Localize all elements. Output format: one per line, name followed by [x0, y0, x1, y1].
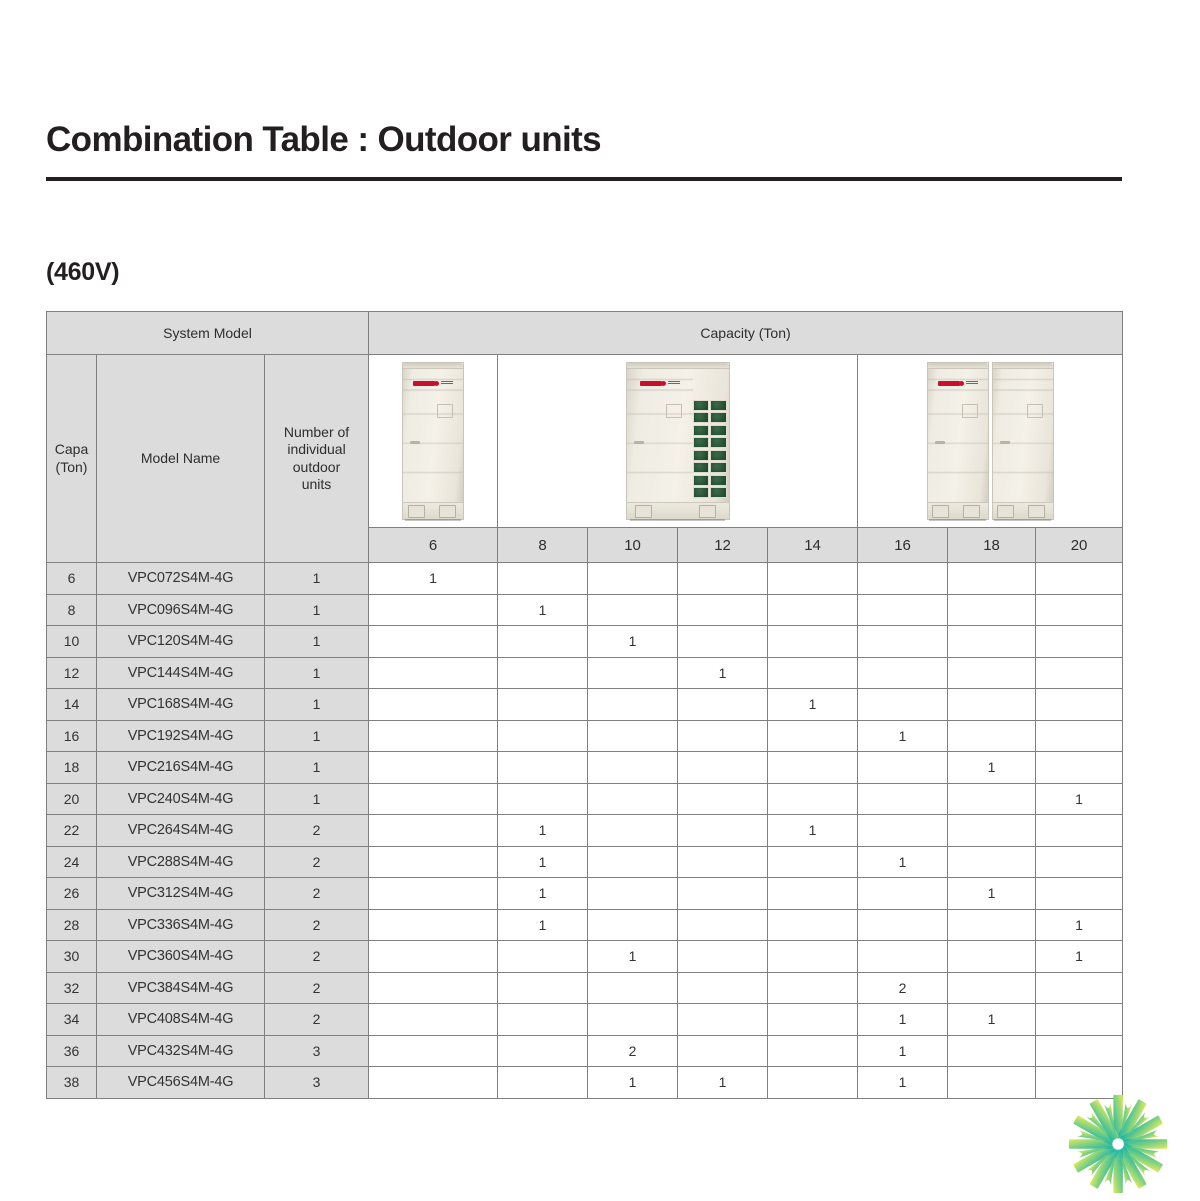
capacity-cell-20 — [1036, 689, 1123, 721]
capacity-cell-6 — [369, 689, 498, 721]
row-model-name: VPC264S4M-4G — [97, 815, 265, 847]
row-capacity-ton: 30 — [47, 941, 97, 973]
unit-vent-icon — [935, 441, 945, 444]
capacity-cell-6 — [369, 783, 498, 815]
header-model-name: Model Name — [97, 355, 265, 563]
unit-vent-icon — [1000, 441, 1010, 444]
row-capacity-ton: 26 — [47, 878, 97, 910]
header-units-line3: outdoor — [265, 459, 368, 477]
capacity-cell-14 — [768, 972, 858, 1004]
capacity-cell-18 — [948, 720, 1036, 752]
capacity-cell-8 — [498, 941, 588, 973]
capacity-cell-14 — [768, 1067, 858, 1099]
unit-front-panel — [627, 369, 729, 502]
capacity-cell-14 — [768, 720, 858, 752]
capacity-cell-6 — [369, 752, 498, 784]
capacity-cell-6 — [369, 941, 498, 973]
capacity-cell-12 — [678, 752, 768, 784]
capacity-cell-12 — [678, 941, 768, 973]
capacity-cell-16 — [858, 941, 948, 973]
unit-ground-shadow — [994, 519, 1050, 521]
capacity-cell-12 — [678, 563, 768, 595]
table-row: 36VPC432S4M-4G321 — [47, 1035, 1123, 1067]
unit-base-plate — [627, 502, 729, 519]
outdoor-unit-body-secondary — [992, 362, 1054, 520]
capacity-cell-18 — [948, 689, 1036, 721]
capacity-cell-20: 1 — [1036, 909, 1123, 941]
capacity-cell-10 — [588, 846, 678, 878]
capacity-cell-12 — [678, 594, 768, 626]
capacity-cell-14 — [768, 657, 858, 689]
capacity-cell-8: 1 — [498, 909, 588, 941]
capacity-cell-8 — [498, 626, 588, 658]
row-number-of-units: 2 — [265, 878, 369, 910]
capacity-cell-12 — [678, 1004, 768, 1036]
row-model-name: VPC456S4M-4G — [97, 1067, 265, 1099]
unit-image-cell-dual — [858, 355, 1123, 528]
row-model-name: VPC384S4M-4G — [97, 972, 265, 1004]
voltage-subtitle: (460V) — [46, 258, 119, 287]
row-number-of-units: 2 — [265, 972, 369, 1004]
table-row: 38VPC456S4M-4G3111 — [47, 1067, 1123, 1099]
capacity-cell-12: 1 — [678, 1067, 768, 1099]
capacity-cell-10 — [588, 815, 678, 847]
unit-access-hatch-icon — [437, 404, 453, 418]
logo-wordmark-icon — [966, 381, 978, 385]
logo-wordmark-icon — [441, 381, 453, 385]
row-number-of-units: 1 — [265, 720, 369, 752]
row-capacity-ton: 10 — [47, 626, 97, 658]
row-capacity-ton: 8 — [47, 594, 97, 626]
capacity-cell-12 — [678, 689, 768, 721]
capacity-cell-18 — [948, 626, 1036, 658]
row-number-of-units: 2 — [265, 941, 369, 973]
row-model-name: VPC168S4M-4G — [97, 689, 265, 721]
capacity-cell-14: 1 — [768, 689, 858, 721]
capacity-cell-10 — [588, 720, 678, 752]
capacity-cell-14 — [768, 941, 858, 973]
row-number-of-units: 2 — [265, 846, 369, 878]
unit-access-hatch-icon — [962, 404, 978, 418]
capacity-cell-16: 1 — [858, 1004, 948, 1036]
capacity-cell-18 — [948, 846, 1036, 878]
table-row: 6VPC072S4M-4G11 — [47, 563, 1123, 595]
header-system-model: System Model — [47, 312, 369, 355]
unit-face-panel — [928, 369, 988, 502]
capacity-cell-10 — [588, 783, 678, 815]
capacity-cell-16: 1 — [858, 846, 948, 878]
unit-front-panel — [993, 369, 1053, 502]
capacity-cell-10 — [588, 1004, 678, 1036]
capacity-column-header-12: 12 — [678, 528, 768, 563]
capacity-cell-20 — [1036, 1035, 1123, 1067]
row-capacity-ton: 14 — [47, 689, 97, 721]
capacity-cell-8 — [498, 1067, 588, 1099]
row-model-name: VPC072S4M-4G — [97, 563, 265, 595]
table-row: 10VPC120S4M-4G11 — [47, 626, 1123, 658]
row-capacity-ton: 36 — [47, 1035, 97, 1067]
table-row: 26VPC312S4M-4G211 — [47, 878, 1123, 910]
row-number-of-units: 1 — [265, 594, 369, 626]
capacity-cell-12 — [678, 972, 768, 1004]
row-capacity-ton: 6 — [47, 563, 97, 595]
capacity-cell-14 — [768, 878, 858, 910]
unit-base-plate — [928, 502, 988, 519]
capacity-cell-18 — [948, 909, 1036, 941]
capacity-cell-12 — [678, 909, 768, 941]
row-capacity-ton: 16 — [47, 720, 97, 752]
capacity-cell-6 — [369, 909, 498, 941]
row-number-of-units: 2 — [265, 909, 369, 941]
table-head: System Model Capacity (Ton) Capa (Ton) M… — [47, 312, 1123, 563]
capacity-cell-6 — [369, 846, 498, 878]
capacity-cell-20 — [1036, 626, 1123, 658]
header-subheader-row: Capa (Ton) Model Name Number of individu… — [47, 355, 1123, 528]
capacity-cell-18: 1 — [948, 878, 1036, 910]
capacity-cell-18: 1 — [948, 752, 1036, 784]
table-row: 20VPC240S4M-4G11 — [47, 783, 1123, 815]
capacity-cell-8 — [498, 563, 588, 595]
single-wide-outdoor-unit — [498, 355, 857, 527]
row-model-name: VPC216S4M-4G — [97, 752, 265, 784]
capacity-cell-14 — [768, 846, 858, 878]
capacity-cell-20 — [1036, 563, 1123, 595]
outdoor-unit-body — [626, 362, 730, 520]
logo-bar-icon — [938, 381, 960, 386]
capacity-column-header-16: 16 — [858, 528, 948, 563]
capacity-column-header-8: 8 — [498, 528, 588, 563]
capacity-cell-20 — [1036, 878, 1123, 910]
logo-dot-icon — [959, 381, 964, 386]
capacity-cell-8 — [498, 689, 588, 721]
capacity-cell-12 — [678, 846, 768, 878]
outdoor-unit-body — [927, 362, 989, 520]
table-row: 16VPC192S4M-4G11 — [47, 720, 1123, 752]
unit-image-cell-single-wide — [498, 355, 858, 528]
row-number-of-units: 3 — [265, 1067, 369, 1099]
unit-foot-right-icon — [699, 505, 716, 518]
capacity-cell-16 — [858, 783, 948, 815]
capacity-cell-12 — [678, 783, 768, 815]
capacity-cell-20 — [1036, 972, 1123, 1004]
unit-heat-exchanger-coil — [693, 400, 727, 498]
capacity-cell-14 — [768, 563, 858, 595]
header-units-line4: units — [265, 476, 368, 494]
row-capacity-ton: 28 — [47, 909, 97, 941]
capacity-cell-6 — [369, 972, 498, 1004]
unit-foot-right-icon — [439, 505, 456, 518]
table-row: 24VPC288S4M-4G211 — [47, 846, 1123, 878]
capacity-cell-10: 2 — [588, 1035, 678, 1067]
table-row: 14VPC168S4M-4G11 — [47, 689, 1123, 721]
row-model-name: VPC336S4M-4G — [97, 909, 265, 941]
capacity-cell-8 — [498, 972, 588, 1004]
row-capacity-ton: 32 — [47, 972, 97, 1004]
capacity-cell-8 — [498, 1035, 588, 1067]
capacity-cell-14: 1 — [768, 815, 858, 847]
capacity-cell-14 — [768, 1035, 858, 1067]
capacity-cell-10 — [588, 909, 678, 941]
capacity-column-header-18: 18 — [948, 528, 1036, 563]
capacity-cell-6 — [369, 1035, 498, 1067]
capacity-cell-12 — [678, 878, 768, 910]
table-row: 12VPC144S4M-4G11 — [47, 657, 1123, 689]
capacity-cell-18: 1 — [948, 1004, 1036, 1036]
capacity-cell-12 — [678, 626, 768, 658]
capacity-cell-20: 1 — [1036, 783, 1123, 815]
row-model-name: VPC240S4M-4G — [97, 783, 265, 815]
capacity-cell-10 — [588, 972, 678, 1004]
lennox-logo-icon — [640, 381, 680, 386]
unit-access-hatch-icon — [666, 404, 682, 418]
capacity-cell-18 — [948, 594, 1036, 626]
logo-dot-icon — [434, 381, 439, 386]
capacity-cell-6 — [369, 720, 498, 752]
capacity-cell-12: 1 — [678, 657, 768, 689]
row-model-name: VPC408S4M-4G — [97, 1004, 265, 1036]
row-capacity-ton: 20 — [47, 783, 97, 815]
capacity-cell-20 — [1036, 815, 1123, 847]
row-model-name: VPC360S4M-4G — [97, 941, 265, 973]
unit-front-panel — [928, 369, 988, 502]
table-body: 6VPC072S4M-4G118VPC096S4M-4G1110VPC120S4… — [47, 563, 1123, 1099]
unit-foot-right-icon — [963, 505, 980, 518]
capacity-cell-10 — [588, 752, 678, 784]
capacity-cell-8 — [498, 783, 588, 815]
capacity-cell-8 — [498, 752, 588, 784]
capacity-cell-6: 1 — [369, 563, 498, 595]
unit-image-cell-single-slim — [369, 355, 498, 528]
unit-ground-shadow — [929, 519, 985, 521]
capacity-cell-14 — [768, 909, 858, 941]
unit-ground-shadow — [630, 519, 726, 521]
capacity-cell-16 — [858, 909, 948, 941]
row-model-name: VPC192S4M-4G — [97, 720, 265, 752]
capacity-cell-20 — [1036, 752, 1123, 784]
capacity-cell-16: 1 — [858, 720, 948, 752]
unit-foot-left-icon — [932, 505, 949, 518]
capacity-cell-20 — [1036, 1004, 1123, 1036]
single-slim-outdoor-unit — [369, 355, 497, 527]
row-number-of-units: 1 — [265, 783, 369, 815]
capacity-cell-18 — [948, 1035, 1036, 1067]
row-model-name: VPC096S4M-4G — [97, 594, 265, 626]
capacity-cell-20 — [1036, 594, 1123, 626]
unit-base-plate — [993, 502, 1053, 519]
capacity-cell-6 — [369, 657, 498, 689]
capacity-column-header-14: 14 — [768, 528, 858, 563]
capacity-cell-14 — [768, 752, 858, 784]
capacity-cell-16 — [858, 594, 948, 626]
row-capacity-ton: 22 — [47, 815, 97, 847]
title-underline-rule — [46, 177, 1122, 181]
capacity-cell-10: 1 — [588, 626, 678, 658]
unit-face-panel — [627, 369, 693, 502]
starburst-brand-logo — [1062, 1092, 1178, 1196]
header-capa-ton: Capa (Ton) — [47, 355, 97, 563]
capacity-cell-16 — [858, 878, 948, 910]
capacity-cell-16 — [858, 657, 948, 689]
row-capacity-ton: 18 — [47, 752, 97, 784]
row-model-name: VPC312S4M-4G — [97, 878, 265, 910]
table-row: 22VPC264S4M-4G211 — [47, 815, 1123, 847]
capacity-cell-6 — [369, 1067, 498, 1099]
unit-foot-left-icon — [635, 505, 652, 518]
row-number-of-units: 1 — [265, 657, 369, 689]
header-group-row: System Model Capacity (Ton) — [47, 312, 1123, 355]
row-number-of-units: 1 — [265, 752, 369, 784]
capacity-cell-8 — [498, 720, 588, 752]
table-row: 32VPC384S4M-4G22 — [47, 972, 1123, 1004]
capacity-cell-8 — [498, 1004, 588, 1036]
combination-table: System Model Capacity (Ton) Capa (Ton) M… — [46, 311, 1123, 1099]
table-row: 8VPC096S4M-4G11 — [47, 594, 1123, 626]
capacity-cell-18 — [948, 1067, 1036, 1099]
unit-ground-shadow — [405, 519, 461, 521]
capacity-cell-16 — [858, 815, 948, 847]
capacity-cell-8: 1 — [498, 846, 588, 878]
header-number-of-units: Number of individual outdoor units — [265, 355, 369, 563]
capacity-cell-6 — [369, 594, 498, 626]
table-row: 28VPC336S4M-4G211 — [47, 909, 1123, 941]
capacity-cell-14 — [768, 626, 858, 658]
header-units-line2: individual — [265, 441, 368, 459]
dual-outdoor-unit — [858, 355, 1122, 527]
capacity-column-header-10: 10 — [588, 528, 678, 563]
capacity-cell-18 — [948, 657, 1036, 689]
capacity-cell-18 — [948, 815, 1036, 847]
unit-foot-left-icon — [997, 505, 1014, 518]
capacity-column-header-6: 6 — [369, 528, 498, 563]
row-capacity-ton: 24 — [47, 846, 97, 878]
row-capacity-ton: 38 — [47, 1067, 97, 1099]
capacity-cell-16: 1 — [858, 1067, 948, 1099]
header-units-line1: Number of — [265, 424, 368, 442]
capacity-cell-16 — [858, 752, 948, 784]
capacity-cell-20: 1 — [1036, 941, 1123, 973]
capacity-cell-20 — [1036, 720, 1123, 752]
logo-bar-icon — [413, 381, 435, 386]
unit-vent-icon — [410, 441, 420, 444]
unit-foot-right-icon — [1028, 505, 1045, 518]
capacity-cell-20 — [1036, 657, 1123, 689]
capacity-cell-14 — [768, 594, 858, 626]
table-row: 34VPC408S4M-4G211 — [47, 1004, 1123, 1036]
capacity-cell-14 — [768, 783, 858, 815]
capacity-cell-10 — [588, 878, 678, 910]
unit-foot-left-icon — [408, 505, 425, 518]
capacity-cell-6 — [369, 878, 498, 910]
combination-table-wrap: System Model Capacity (Ton) Capa (Ton) M… — [46, 311, 1122, 1099]
capacity-cell-10 — [588, 657, 678, 689]
capacity-cell-18 — [948, 783, 1036, 815]
page-root: Combination Table : Outdoor units (460V) — [0, 0, 1200, 1200]
unit-vent-icon — [634, 441, 644, 444]
logo-bar-icon — [640, 381, 662, 386]
row-number-of-units: 1 — [265, 689, 369, 721]
capacity-cell-10 — [588, 594, 678, 626]
unit-face-panel — [993, 369, 1053, 502]
row-number-of-units: 2 — [265, 815, 369, 847]
capacity-cell-8 — [498, 657, 588, 689]
capacity-cell-18 — [948, 563, 1036, 595]
title-block: Combination Table : Outdoor units — [46, 120, 1122, 181]
lennox-logo-icon — [413, 381, 453, 386]
row-number-of-units: 3 — [265, 1035, 369, 1067]
capacity-cell-20 — [1036, 846, 1123, 878]
capacity-cell-14 — [768, 1004, 858, 1036]
row-model-name: VPC120S4M-4G — [97, 626, 265, 658]
capacity-cell-6 — [369, 1004, 498, 1036]
capacity-cell-16 — [858, 626, 948, 658]
row-capacity-ton: 34 — [47, 1004, 97, 1036]
capacity-cell-10 — [588, 563, 678, 595]
unit-access-hatch-icon — [1027, 404, 1043, 418]
lennox-logo-icon — [938, 381, 978, 386]
unit-base-plate — [403, 502, 463, 519]
table-row: 18VPC216S4M-4G11 — [47, 752, 1123, 784]
capacity-cell-6 — [369, 626, 498, 658]
row-number-of-units: 1 — [265, 626, 369, 658]
capacity-cell-12 — [678, 1035, 768, 1067]
capacity-cell-12 — [678, 720, 768, 752]
capacity-cell-16 — [858, 563, 948, 595]
capacity-cell-16: 1 — [858, 1035, 948, 1067]
capacity-cell-8: 1 — [498, 878, 588, 910]
capacity-cell-16: 2 — [858, 972, 948, 1004]
capacity-cell-10 — [588, 689, 678, 721]
row-model-name: VPC288S4M-4G — [97, 846, 265, 878]
row-capacity-ton: 12 — [47, 657, 97, 689]
header-capa-line2: (Ton) — [47, 459, 96, 477]
header-capacity-ton: Capacity (Ton) — [369, 312, 1123, 355]
capacity-cell-8: 1 — [498, 594, 588, 626]
outdoor-unit-body — [402, 362, 464, 520]
capacity-cell-16 — [858, 689, 948, 721]
page-title: Combination Table : Outdoor units — [46, 120, 1122, 159]
capacity-cell-12 — [678, 815, 768, 847]
capacity-cell-8: 1 — [498, 815, 588, 847]
logo-dot-icon — [661, 381, 666, 386]
row-number-of-units: 2 — [265, 1004, 369, 1036]
capacity-cell-18 — [948, 941, 1036, 973]
table-row: 30VPC360S4M-4G211 — [47, 941, 1123, 973]
unit-front-panel — [403, 369, 463, 502]
unit-face-panel — [403, 369, 463, 502]
row-model-name: VPC144S4M-4G — [97, 657, 265, 689]
capacity-column-header-20: 20 — [1036, 528, 1123, 563]
capacity-cell-6 — [369, 815, 498, 847]
row-model-name: VPC432S4M-4G — [97, 1035, 265, 1067]
header-capa-line1: Capa — [47, 441, 96, 459]
capacity-cell-10: 1 — [588, 1067, 678, 1099]
row-number-of-units: 1 — [265, 563, 369, 595]
capacity-cell-18 — [948, 972, 1036, 1004]
logo-wordmark-icon — [668, 381, 680, 385]
capacity-cell-10: 1 — [588, 941, 678, 973]
